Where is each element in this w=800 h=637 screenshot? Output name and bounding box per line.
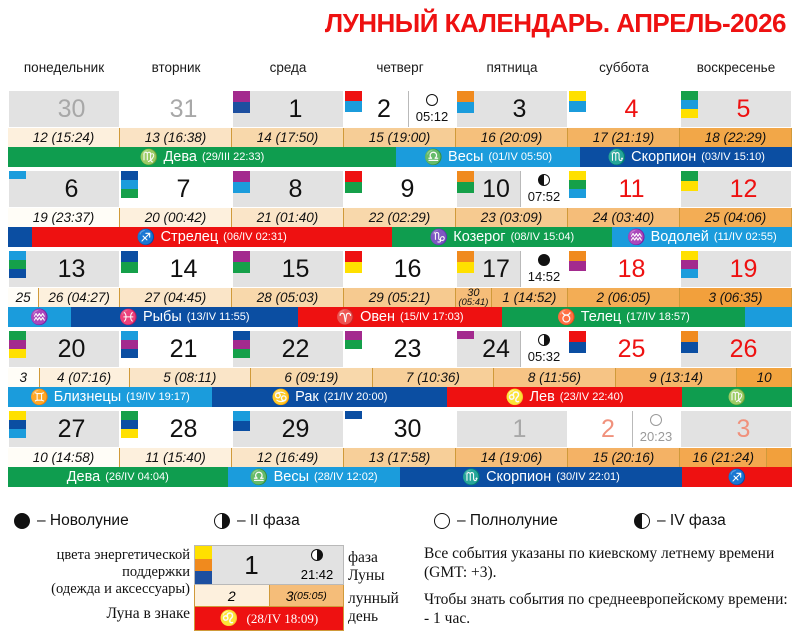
colors-label-line1: цвета энергетической [0,547,190,564]
energy-color-swatch [345,171,362,207]
calendar-grid: 30311205:1234512 (15:24)13 (16:38)14 (17… [8,90,792,490]
swatch-band [569,189,586,198]
lunar-day-cell[interactable]: 21 (01:40) [232,208,344,227]
zodiac-row: ♐Стрелец(06/IV 02:31)♑Козерог(08/IV 15:0… [8,227,792,247]
swatch-band [233,331,250,340]
day-number: 5 [698,91,791,127]
sample-lunar-b: 3(05:05) [269,585,344,606]
sample-phase: 21:42 [291,546,343,584]
zodiac-name: Рак [295,390,319,405]
day-number: 19 [698,251,791,287]
day-cell[interactable]: 19 [680,250,792,288]
day-number: 10 [474,171,520,207]
sample-swatch-band [195,571,212,584]
day-number: 9 [362,171,455,207]
swatch-band [233,262,250,273]
zodiac-name: Близнецы [54,390,121,405]
zodiac-symbol-icon: ♉ [557,310,576,325]
swatch-band [569,342,586,353]
calendar-week: 272829301220:23310 (14:58)11 (15:40)12 (… [8,410,792,487]
swatch-band [121,429,138,438]
zodiac-symbol-icon: ♑ [430,230,449,245]
lunar-day-cell[interactable]: 9 (13:14) [616,368,738,387]
explanation-section: цвета энергетической поддержки (одежда и… [0,545,800,635]
zodiac-name: Дева [163,150,197,165]
day-cell[interactable]: 16 [344,250,456,288]
weekday-3: четверг [344,60,456,82]
swatch-band [121,340,138,349]
lunar-day-cell[interactable]: 16 (20:09) [456,128,568,147]
swatch-band [233,171,250,182]
swatch-band [9,420,26,429]
zodiac-ingress-time: (23/IV 22:40) [560,392,624,403]
weekday-2: среда [232,60,344,82]
moon-full-icon [434,513,450,529]
day-cell[interactable]: 20 [8,330,120,368]
day-cell[interactable]: 5 [680,90,792,128]
energy-color-swatch [233,251,250,287]
swatch-band [457,102,474,113]
zodiac-symbol-icon: ♎ [424,150,443,165]
zodiac-ingress-time: (21/IV 20:00) [324,392,388,403]
swatch-band [233,349,250,358]
moon-phase-time: 07:52 [528,190,561,207]
day-cell[interactable]: 4 [568,90,680,128]
day-number: 29 [250,411,343,447]
zodiac-segment[interactable]: ♉Телец(17/IV 18:57) [502,307,745,327]
sample-moon-icon [311,549,323,561]
swatch-band [569,101,586,112]
zodiac-segment[interactable]: ♍Дева(29/III 22:33) [8,147,396,167]
lunar-day-cell[interactable]: 10 (14:58) [8,448,120,467]
swatch-band [121,420,138,429]
zodiac-ingress-time: (17/IV 18:57) [626,312,690,323]
energy-color-swatch [569,411,586,447]
lunar-day-cell[interactable]: 16 (21:24) [680,448,767,467]
zodiac-segment[interactable] [745,307,792,327]
day-cell[interactable]: 11 [568,170,680,208]
day-number: 30 [26,91,119,127]
weekday-1: вторник [120,60,232,82]
lunar-day-cell[interactable]: 23 (03:09) [456,208,568,227]
lunar-day-cell[interactable]: 18 (22:29) [680,128,792,147]
swatch-band [345,331,362,340]
zodiac-segment[interactable]: ♍ [682,387,792,407]
legend-label: – IV фаза [657,512,726,530]
swatch-band [345,340,362,349]
lunar-day-cell[interactable] [767,448,792,467]
lunar-day-cell[interactable]: 25 [8,288,39,307]
day-cell[interactable]: 8 [232,170,344,208]
day-cell[interactable]: 3 [456,90,568,128]
sample-lunar-b-time: (05:05) [294,590,327,602]
day-cell[interactable]: 14 [120,250,232,288]
lunar-day-cell[interactable]: 20 (00:42) [120,208,232,227]
energy-color-swatch [569,251,586,287]
zodiac-segment[interactable]: ♏Скорпион(30/IV 22:01) [400,467,682,487]
zodiac-segment[interactable]: ♈Овен(15/IV 17:03) [298,307,502,327]
swatch-band [121,189,138,198]
sample-swatch-band [195,559,212,572]
lunar-day-cell[interactable]: 6 (09:19) [251,368,373,387]
sample-day-cell: 1 21:42 [194,545,344,585]
day-cell[interactable]: 1007:52 [456,170,568,208]
swatch-band [345,411,362,419]
lunar-day-cell[interactable]: 8 (11:56) [494,368,616,387]
zodiac-segment[interactable]: ♌Лев(23/IV 22:40) [447,387,682,407]
colors-label-line2: поддержки [0,564,190,581]
lunar-day-label: лунный день [348,590,408,626]
zodiac-symbol-icon: ♊ [30,390,49,405]
swatch-band [345,171,362,182]
zodiac-ingress-time: (28/IV 12:02) [314,472,378,483]
day-cell[interactable]: 1 [232,90,344,128]
lunar-day-cell[interactable]: 14 (19:06) [456,448,568,467]
energy-color-swatch [457,171,474,207]
day-cell[interactable]: 26 [680,330,792,368]
lunar-day-cell[interactable]: 13 (17:58) [344,448,456,467]
lunar-day-cell[interactable]: 3 (06:35) [680,288,792,307]
energy-color-swatch [233,91,250,127]
swatch-band [681,251,698,260]
zodiac-segment[interactable]: ♎Весы(28/IV 12:02) [228,467,400,487]
day-cell[interactable]: 21 [120,330,232,368]
zodiac-name: Рыбы [143,310,182,325]
swatch-band [233,340,250,349]
day-number: 20 [26,331,119,367]
swatch-band [9,429,26,438]
swatch-band [121,180,138,189]
zodiac-segment[interactable]: ♏Скорпион(03/IV 15:10) [580,147,792,167]
legend-item-full: – Полнолуние [434,512,558,530]
lunar-day-time: (05:41) [458,298,488,307]
lunar-day-cell[interactable]: 30(05:41) [456,288,492,307]
lunar-day-cell[interactable]: 11 (15:40) [120,448,232,467]
lunar-day-cell[interactable]: 13 (16:38) [120,128,232,147]
energy-color-swatch [9,411,26,447]
energy-color-swatch [457,331,474,367]
lunar-day-row: 34 (07:16)5 (08:11)6 (09:19)7 (10:36)8 (… [8,368,792,387]
swatch-band [233,102,250,113]
energy-color-swatch [121,171,138,207]
legend-label: – Новолуние [37,512,129,530]
moon-phase-marker[interactable]: 20:23 [632,411,679,447]
zodiac-ingress-time: (01/IV 05:50) [488,152,552,163]
moon-new-icon [14,513,30,529]
zodiac-symbol-icon: ♒ [30,310,49,325]
day-cell[interactable]: 2405:32 [456,330,568,368]
calendar-week: 30311205:1234512 (15:24)13 (16:38)14 (17… [8,90,792,167]
day-number: 26 [698,331,791,367]
lunar-day-cell[interactable]: 5 (08:11) [130,368,252,387]
day-cell[interactable]: 12 [680,170,792,208]
swatch-band [345,91,362,101]
day-number: 21 [138,331,231,367]
swatch-band [121,349,138,358]
energy-color-swatch [233,331,250,367]
zodiac-symbol-icon: ♓ [119,310,138,325]
zodiac-segment[interactable]: ♋Рак(21/IV 20:00) [212,387,447,407]
day-number: 24 [474,331,520,367]
swatch-band [681,91,698,100]
day-cell[interactable]: 30 [344,410,456,448]
lunar-day-cell[interactable]: 15 (20:16) [568,448,680,467]
day-number: 30 [362,411,455,447]
day-number: 16 [362,251,455,287]
lunar-day-cell[interactable]: 14 (17:50) [232,128,344,147]
swatch-band [233,421,250,431]
swatch-band [345,251,362,262]
sample-lunar-row: 2 3(05:05) [194,585,344,607]
swatch-band [233,251,250,262]
zodiac-symbol-icon: ♎ [250,470,269,485]
day-number: 2 [586,411,632,447]
day-number: 3 [474,91,567,127]
swatch-band [681,171,698,181]
zodiac-segment[interactable]: ♒Водолей(11/IV 02:55) [612,227,792,247]
energy-color-swatch [569,91,586,127]
moon-new-icon [538,254,550,266]
swatch-band [569,331,586,342]
day-cell[interactable]: 13 [8,250,120,288]
lunar-day-cell[interactable]: 29 (05:21) [344,288,456,307]
swatch-band [233,91,250,102]
zodiac-segment[interactable]: ♓Рыбы(13/IV 11:55) [71,307,298,327]
swatch-band [121,411,138,420]
lunar-day-cell[interactable]: 27 (04:45) [120,288,232,307]
phase-label-line1: фаза [348,549,385,567]
zodiac-segment[interactable]: ♐ [682,467,792,487]
energy-color-swatch [457,251,474,287]
zodiac-segment[interactable]: ♐Стрелец(06/IV 02:31) [32,227,393,247]
zodiac-ingress-time: (11/IV 02:55) [714,232,777,243]
lunar-day-cell[interactable]: 2 (06:05) [568,288,680,307]
zodiac-segment[interactable]: ♑Козерог(08/IV 15:04) [392,227,612,247]
moon-phase-time: 05:12 [416,110,449,127]
lunar-day-row: 10 (14:58)11 (15:40)12 (16:49)13 (17:58)… [8,448,792,467]
moon-phase-marker[interactable]: 05:32 [520,331,567,367]
zodiac-ingress-time: (26/IV 04:04) [105,472,169,483]
day-number: 25 [586,331,679,367]
legend-item-q4: – IV фаза [634,512,726,530]
lunar-day-cell[interactable]: 3 [8,368,40,387]
energy-color-swatch [681,331,698,367]
swatch-band [681,269,698,278]
energy-color-swatch [233,171,250,207]
note-line-1: Все события указаны по киевскому летнему… [424,545,792,582]
energy-color-swatch [121,331,138,367]
day-cell[interactable]: 30 [8,90,120,128]
swatch-band [9,340,26,349]
energy-color-swatch [233,411,250,447]
zodiac-ingress-time: (13/IV 11:55) [187,312,250,323]
lunar-day-cell[interactable]: 12 (16:49) [232,448,344,467]
zodiac-name: Водолей [651,230,709,245]
legend-label: – II фаза [237,512,300,530]
energy-color-swatch [345,251,362,287]
swatch-band [569,261,586,271]
zodiac-name: Весы [274,470,309,485]
swatch-band [233,411,250,421]
moon-q2-icon [538,334,550,346]
day-number: 8 [250,171,343,207]
day-number: 1 [474,411,567,447]
energy-color-swatch [9,171,26,207]
moon-full-icon [426,94,438,106]
lunar-day-cell[interactable]: 7 (10:36) [373,368,495,387]
zodiac-name: Козерог [453,230,505,245]
zodiac-ingress-time: (15/IV 17:03) [400,312,464,323]
lunar-day-cell[interactable]: 10 [737,368,792,387]
swatch-band [569,251,586,261]
lunar-calendar-page: ЛУННЫЙ КАЛЕНДАРЬ. АПРЕЛЬ-2026 понедельни… [0,0,800,635]
zodiac-row: ♊Близнецы(19/IV 19:17)♋Рак(21/IV 20:00)♌… [8,387,792,407]
swatch-band [681,331,698,342]
day-cell[interactable]: 29 [232,410,344,448]
legend-item-q2: – II фаза [214,512,300,530]
swatch-band [9,349,26,358]
zodiac-segment[interactable]: ♎Весы(01/IV 05:50) [396,147,580,167]
weekday-6: воскресенье [680,60,792,82]
lunar-day-cell[interactable]: 25 (04:06) [680,208,792,227]
lunar-day-cell[interactable]: 17 (21:19) [568,128,680,147]
lunar-day-cell[interactable]: 15 (19:00) [344,128,456,147]
zodiac-name: Скорпион [486,470,551,485]
zodiac-name: Дева [67,470,101,485]
zodiac-name: Весы [448,150,483,165]
swatch-band [457,91,474,102]
day-number: 23 [362,331,455,367]
day-cell[interactable]: 7 [120,170,232,208]
day-cell[interactable]: 22 [232,330,344,368]
day-cell[interactable]: 1714:52 [456,250,568,288]
sample-phase-time: 21:42 [301,567,334,584]
day-cell[interactable]: 27 [8,410,120,448]
energy-color-swatch [681,171,698,207]
day-number: 15 [250,251,343,287]
lunar-day-cell[interactable]: 24 (03:40) [568,208,680,227]
day-number: 17 [474,251,520,287]
zodiac-name: Овен [360,310,395,325]
day-cell[interactable]: 6 [8,170,120,208]
zodiac-row: ♍Дева(29/III 22:33)♎Весы(01/IV 05:50)♏Ск… [8,147,792,167]
lunar-day-row: 19 (23:37)20 (00:42)21 (01:40)22 (02:29)… [8,208,792,227]
explanation-note: Все события указаны по киевскому летнему… [424,545,792,637]
lunar-day-cell[interactable]: 28 (05:03) [232,288,344,307]
swatch-band [121,262,138,273]
day-number: 2 [362,91,408,127]
lunar-day-row: 2526 (04:27)27 (04:45)28 (05:03)29 (05:2… [8,288,792,307]
zodiac-segment[interactable] [8,227,32,247]
day-number: 27 [26,411,119,447]
zodiac-segment[interactable]: ♒ [8,307,71,327]
sample-swatch [195,546,212,584]
lunar-day-cell[interactable]: 19 (23:37) [8,208,120,227]
swatch-band [9,260,26,269]
zodiac-symbol-icon: ♏ [462,470,481,485]
swatch-band [457,171,474,182]
energy-color-swatch [121,91,138,127]
zodiac-symbol-icon: ♐ [137,230,156,245]
energy-color-swatch [681,411,698,447]
moon-phase-time: 20:23 [640,430,673,447]
lunar-day-cell[interactable]: 12 (15:24) [8,128,120,147]
day-cell[interactable]: 25 [568,330,680,368]
lunar-day-row: 12 (15:24)13 (16:38)14 (17:50)15 (19:00)… [8,128,792,147]
day-cell[interactable]: 220:23 [568,410,680,448]
day-number-row: 30311205:12345 [8,90,792,128]
day-number: 18 [586,251,679,287]
day-number: 22 [250,331,343,367]
day-cell[interactable]: 3 [680,410,792,448]
moon-phase-marker[interactable]: 14:52 [520,251,567,287]
day-cell[interactable]: 28 [120,410,232,448]
day-cell[interactable]: 15 [232,250,344,288]
phase-label-line2: Луны [348,567,385,585]
zodiac-symbol-icon: ♌ [506,390,525,405]
day-cell[interactable]: 1 [456,410,568,448]
zodiac-symbol-icon: ♈ [336,310,355,325]
energy-color-swatch [681,251,698,287]
legend-label: – Полнолуние [457,512,558,530]
day-number: 3 [698,411,791,447]
colors-label-line3: (одежда и аксессуары) [0,581,190,598]
page-title: ЛУННЫЙ КАЛЕНДАРЬ. АПРЕЛЬ-2026 [325,8,786,39]
zodiac-ingress-time: (30/IV 22:01) [556,472,620,483]
day-number: 14 [138,251,231,287]
day-cell[interactable]: 18 [568,250,680,288]
day-cell[interactable]: 9 [344,170,456,208]
swatch-band [345,182,362,193]
day-cell[interactable]: 23 [344,330,456,368]
weekday-5: суббота [568,60,680,82]
lunar-day-cell[interactable]: 26 (04:27) [39,288,120,307]
calendar-week: 67891007:52111219 (23:37)20 (00:42)21 (0… [8,170,792,247]
day-number: 13 [26,251,119,287]
legend-item-new: – Новолуние [14,512,129,530]
energy-color-swatch [121,251,138,287]
swatch-band [457,262,474,273]
swatch-band [569,91,586,101]
weekday-0: понедельник [8,60,120,82]
energy-color-swatch [457,91,474,127]
colors-label: цвета энергетической поддержки (одежда и… [0,547,190,598]
lunar-day-cell[interactable]: 22 (02:29) [344,208,456,227]
swatch-band [9,269,26,278]
lunar-day-cell[interactable]: 1 (14:52) [492,288,568,307]
note-line-2: Чтобы знать события по среднеевропейском… [424,591,792,628]
day-number: 1 [250,91,343,127]
zodiac-ingress-time: (29/III 22:33) [202,152,264,163]
swatch-band [345,101,362,112]
energy-color-swatch [569,171,586,207]
energy-color-swatch [457,411,474,447]
energy-color-swatch [681,91,698,127]
moon-phase-marker[interactable]: 05:12 [408,91,455,127]
lunar-day-cell[interactable]: 4 (07:16) [40,368,130,387]
day-cell[interactable]: 31 [120,90,232,128]
zodiac-ingress-time: (08/IV 15:04) [511,232,575,243]
moon-phase-marker[interactable]: 07:52 [520,171,567,207]
zodiac-name: Скорпион [631,150,696,165]
zodiac-segment[interactable]: ♊Близнецы(19/IV 19:17) [8,387,212,407]
day-cell[interactable]: 205:12 [344,90,456,128]
swatch-band [9,171,26,179]
zodiac-segment[interactable]: Дева(26/IV 04:04) [8,467,228,487]
zodiac-symbol-icon: ♍ [728,390,747,405]
zodiac-symbol-icon: ♏ [607,150,626,165]
sample-cell: 1 21:42 2 3(05:05) ♌ (28/IV 18:09) [194,545,344,631]
